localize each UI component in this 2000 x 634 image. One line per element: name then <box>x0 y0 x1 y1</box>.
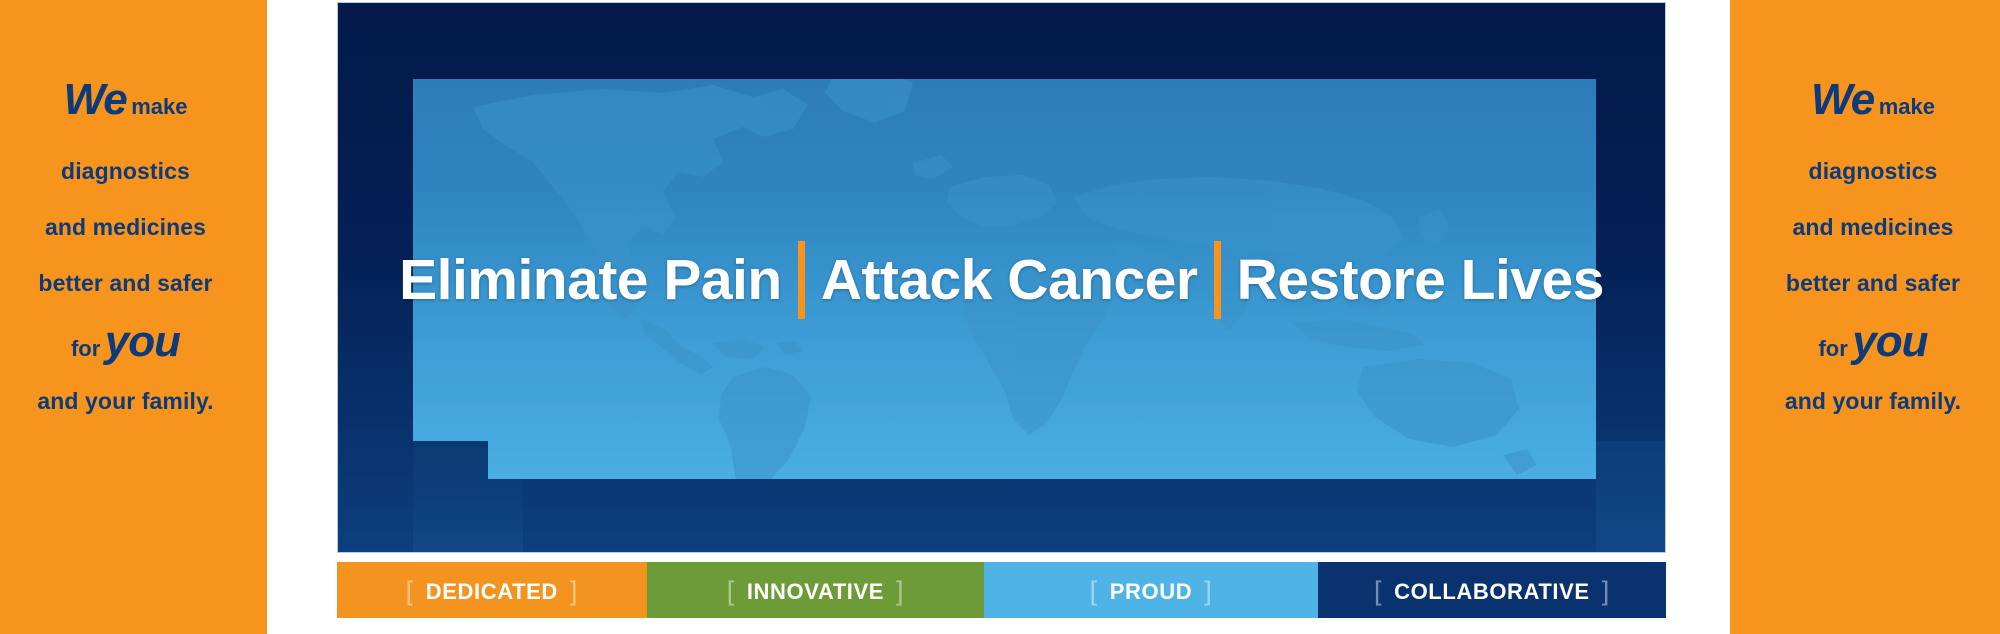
value-segment-collaborative[interactable]: [COLLABORATIVE] <box>1318 562 1666 618</box>
message-line-4: better and safer <box>0 272 251 295</box>
message-line-5: for you <box>0 320 251 364</box>
value-segment-dedicated[interactable]: [DEDICATED] <box>337 562 647 618</box>
message-you-word: you <box>105 317 180 366</box>
message-line-6: and your family. <box>0 390 251 413</box>
message-line-3: and medicines <box>0 216 251 239</box>
bracket-close-icon: ] <box>884 576 916 606</box>
value-text-dedicated: DEDICATED <box>426 579 558 604</box>
banner-headline: Eliminate Pain Attack Cancer Restore Liv… <box>338 241 1665 319</box>
value-segment-proud[interactable]: [PROUD] <box>984 562 1318 618</box>
message-line-2: diagnostics <box>0 160 251 183</box>
value-label-innovative: [INNOVATIVE] <box>715 575 916 606</box>
values-bar: [DEDICATED] [INNOVATIVE] [PROUD] [COLLAB… <box>337 562 1666 618</box>
right-message-copy: We make diagnostics and medicines better… <box>1730 78 2000 413</box>
message-you-word: you <box>1852 317 1927 366</box>
message-line-6: and your family. <box>1746 390 2000 413</box>
headline-divider-2 <box>1214 241 1221 319</box>
bracket-open-icon: [ <box>715 576 747 606</box>
bracket-open-icon: [ <box>1362 576 1394 606</box>
message-make-word: make <box>1879 94 1935 119</box>
bracket-close-icon: ] <box>1590 576 1622 606</box>
value-text-collaborative: COLLABORATIVE <box>1394 579 1590 604</box>
message-line-3: and medicines <box>1746 216 2000 239</box>
message-we-word: We <box>64 75 127 124</box>
value-segment-innovative[interactable]: [INNOVATIVE] <box>647 562 985 618</box>
message-line-4: better and safer <box>1746 272 2000 295</box>
bracket-open-icon: [ <box>1078 576 1110 606</box>
hero-banner: Eliminate Pain Attack Cancer Restore Liv… <box>337 2 1666 553</box>
message-for-word: for <box>71 336 100 361</box>
banner-corner-step-right <box>1596 441 1666 553</box>
message-make-word: make <box>131 94 187 119</box>
headline-divider-1 <box>798 241 805 319</box>
value-text-proud: PROUD <box>1110 579 1192 604</box>
left-message-panel: We make diagnostics and medicines better… <box>0 0 267 634</box>
message-for-word: for <box>1818 336 1847 361</box>
headline-part-2: Attack Cancer <box>805 252 1214 309</box>
message-line-1: We make <box>0 78 251 122</box>
headline-part-3: Restore Lives <box>1221 252 1620 309</box>
message-line-2: diagnostics <box>1746 160 2000 183</box>
left-message-copy: We make diagnostics and medicines better… <box>0 78 267 413</box>
value-label-proud: [PROUD] <box>1078 575 1225 606</box>
bracket-close-icon: ] <box>558 576 590 606</box>
headline-part-1: Eliminate Pain <box>383 252 798 309</box>
value-label-collaborative: [COLLABORATIVE] <box>1362 575 1622 606</box>
message-line-1: We make <box>1746 78 2000 122</box>
right-message-panel: We make diagnostics and medicines better… <box>1730 0 2000 634</box>
value-label-dedicated: [DEDICATED] <box>394 575 590 606</box>
banner-corner-step-left <box>413 479 523 553</box>
message-we-word: We <box>1811 75 1874 124</box>
message-line-5: for you <box>1746 320 2000 364</box>
value-text-innovative: INNOVATIVE <box>747 579 884 604</box>
bracket-open-icon: [ <box>394 576 426 606</box>
poster-canvas: We make diagnostics and medicines better… <box>0 0 2000 634</box>
bracket-close-icon: ] <box>1192 576 1224 606</box>
